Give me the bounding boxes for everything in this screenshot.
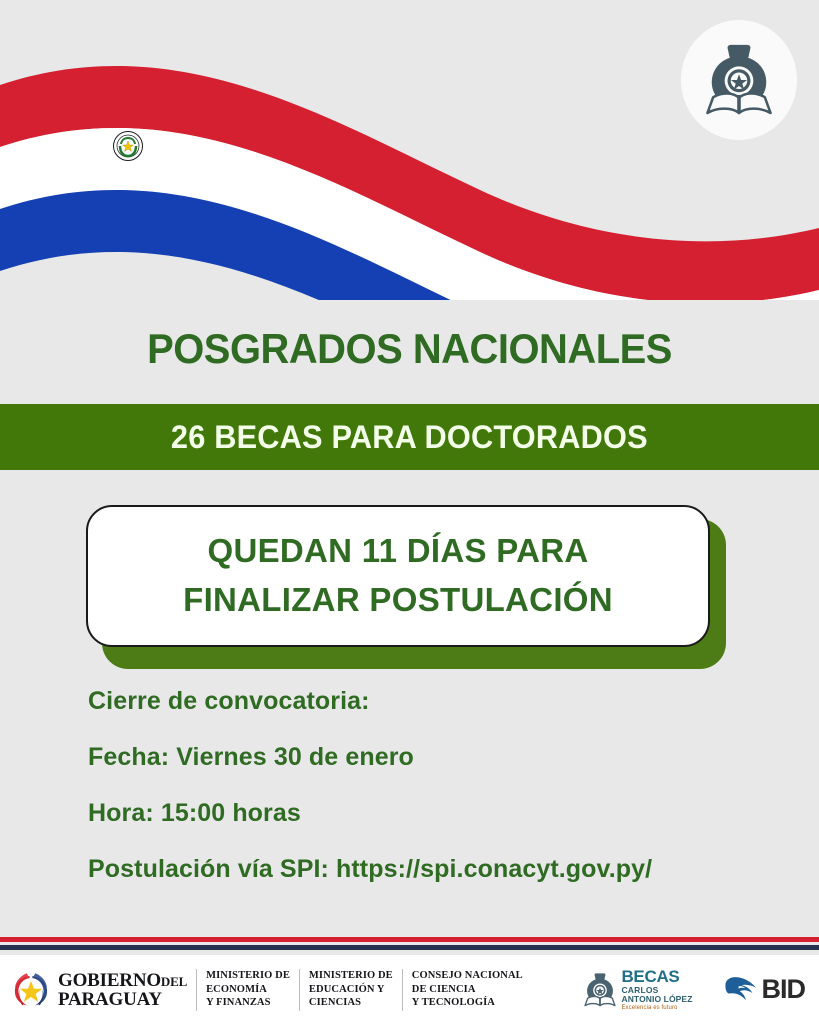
poster-root: POSGRADOS NACIONALES 26 BECAS PARA DOCTO… <box>0 0 819 1024</box>
footer-bid-logo: BID <box>723 974 806 1006</box>
detail-time: Hora: 15:00 horas <box>88 799 778 828</box>
countdown-line-2: FINALIZAR POSTULACIÓN <box>183 583 613 618</box>
details-block: Cierre de convocatoria: Fecha: Viernes 3… <box>88 687 778 884</box>
ministry-1-line-1: MINISTERIO DE <box>206 969 290 982</box>
becas-locomotive-book-icon-small <box>583 971 617 1009</box>
footer-rule-red <box>0 937 819 942</box>
detail-closing: Cierre de convocatoria: <box>88 687 778 716</box>
becas-tagline: Excelencia es futuro <box>621 1005 692 1011</box>
footer-partner-logos: BECAS CARLOS ANTONIO LÓPEZ Excelencia es… <box>583 968 805 1011</box>
bid-wordmark: BID <box>762 974 806 1005</box>
footer-divider-1 <box>196 969 197 1011</box>
bid-wave-icon <box>723 974 759 1006</box>
paraguay-coat-of-arms-seal <box>113 131 143 161</box>
footer-ministry-economia: MINISTERIO DE ECONOMÍA Y FINANZAS <box>206 969 290 1009</box>
scholarship-count-label: 26 BECAS PARA DOCTORADOS <box>171 419 648 456</box>
ministry-1-line-2: ECONOMÍA <box>206 983 290 996</box>
footer-rule-navy <box>0 945 819 950</box>
countdown-card: QUEDAN 11 DÍAS PARA FINALIZAR POSTULACIÓ… <box>86 505 710 647</box>
gobierno-line1-main: GOBIERNO <box>58 970 161 991</box>
becas-sub2: ANTONIO LÓPEZ <box>621 995 692 1004</box>
detail-application-url[interactable]: Postulación vía SPI: https://spi.conacyt… <box>88 855 778 884</box>
detail-date: Fecha: Viernes 30 de enero <box>88 743 778 772</box>
footer-conacyt: CONSEJO NACIONAL DE CIENCIA Y TECNOLOGÍA <box>412 969 523 1009</box>
becas-wordmark: BECAS CARLOS ANTONIO LÓPEZ Excelencia es… <box>621 968 692 1011</box>
footer-divider-2 <box>299 969 300 1011</box>
ministry-2-line-2: EDUCACIÓN Y <box>309 983 393 996</box>
becas-logo-badge <box>681 20 797 140</box>
footer-divider-3 <box>402 969 403 1011</box>
ministry-3-line-1: CONSEJO NACIONAL <box>412 969 523 982</box>
footer-gobierno-block: GOBIERNODEL PARAGUAY <box>10 969 187 1011</box>
gobierno-line1-small: DEL <box>161 974 187 989</box>
gobierno-paraguay-wordmark: GOBIERNODEL PARAGUAY <box>58 971 187 1009</box>
footer-becas-logo: BECAS CARLOS ANTONIO LÓPEZ Excelencia es… <box>583 968 692 1011</box>
countdown-card-wrapper: QUEDAN 11 DÍAS PARA FINALIZAR POSTULACIÓ… <box>86 505 710 655</box>
page-title: POSGRADOS NACIONALES <box>20 325 798 373</box>
gobierno-line2: PARAGUAY <box>58 990 187 1009</box>
ministry-2-line-3: CIENCIAS <box>309 996 393 1009</box>
becas-locomotive-book-icon <box>703 42 775 118</box>
ministry-3-line-3: Y TECNOLOGÍA <box>412 996 523 1009</box>
ministry-3-line-2: DE CIENCIA <box>412 983 523 996</box>
becas-title: BECAS <box>621 968 692 985</box>
ministry-2-line-1: MINISTERIO DE <box>309 969 393 982</box>
gobierno-paraguay-emblem-icon <box>10 969 52 1011</box>
countdown-line-1: QUEDAN 11 DÍAS PARA <box>208 534 589 569</box>
scholarship-count-bar: 26 BECAS PARA DOCTORADOS <box>0 404 819 470</box>
footer-ministry-educacion: MINISTERIO DE EDUCACIÓN Y CIENCIAS <box>309 969 393 1009</box>
footer: GOBIERNODEL PARAGUAY MINISTERIO DE ECONO… <box>0 955 819 1024</box>
ministry-1-line-3: Y FINANZAS <box>206 996 290 1009</box>
